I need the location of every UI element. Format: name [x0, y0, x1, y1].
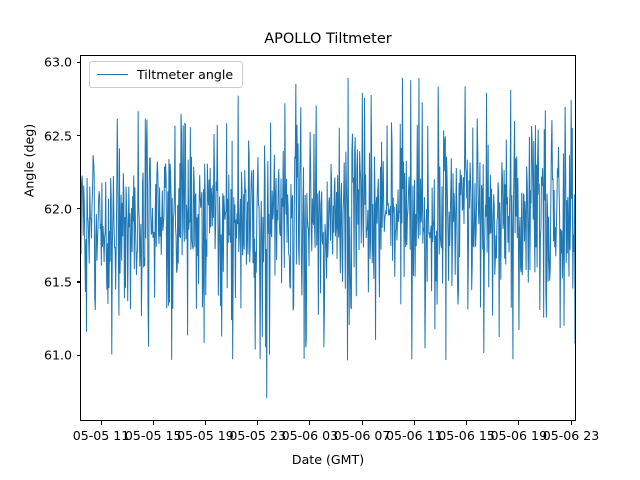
x-tick-mark: [466, 421, 467, 425]
x-tick-label: 05-05 11: [73, 428, 130, 443]
x-tick-label: 05-06 03: [282, 428, 339, 443]
x-tick-mark: [518, 421, 519, 425]
x-tick-label: 05-06 07: [334, 428, 391, 443]
x-tick-mark: [571, 421, 572, 425]
y-tick-label: 61.0: [12, 348, 72, 363]
x-tick-mark: [362, 421, 363, 425]
legend-entry-label: Tiltmeter angle: [137, 67, 233, 82]
x-tick-mark: [414, 421, 415, 425]
y-axis-label: Angle (deg): [22, 76, 37, 246]
legend: Tiltmeter angle: [89, 61, 243, 88]
chart-title: APOLLO Tiltmeter: [80, 30, 576, 48]
plot-area: Tiltmeter angle: [80, 55, 576, 421]
x-tick-label: 05-06 11: [386, 428, 443, 443]
x-tick-mark: [153, 421, 154, 425]
legend-line-swatch: [97, 74, 128, 75]
y-tick-label: 62.5: [12, 128, 72, 143]
x-tick-label: 05-05 23: [229, 428, 286, 443]
x-tick-mark: [309, 421, 310, 425]
y-tick-label: 63.0: [12, 55, 72, 70]
x-axis-label: Date (GMT): [80, 452, 576, 467]
tiltmeter-angle-series: [81, 56, 575, 420]
y-tick-label: 62.0: [12, 201, 72, 216]
x-tick-label: 05-05 19: [177, 428, 234, 443]
x-tick-mark: [257, 421, 258, 425]
figure-canvas: APOLLO Tiltmeter Angle (deg) Date (GMT) …: [0, 0, 640, 480]
x-tick-label: 05-06 15: [438, 428, 495, 443]
y-tick-label: 61.5: [12, 274, 72, 289]
x-tick-mark: [205, 421, 206, 425]
x-tick-label: 05-06 23: [543, 428, 600, 443]
x-tick-label: 05-06 19: [490, 428, 547, 443]
x-tick-label: 05-05 15: [125, 428, 182, 443]
x-tick-mark: [101, 421, 102, 425]
